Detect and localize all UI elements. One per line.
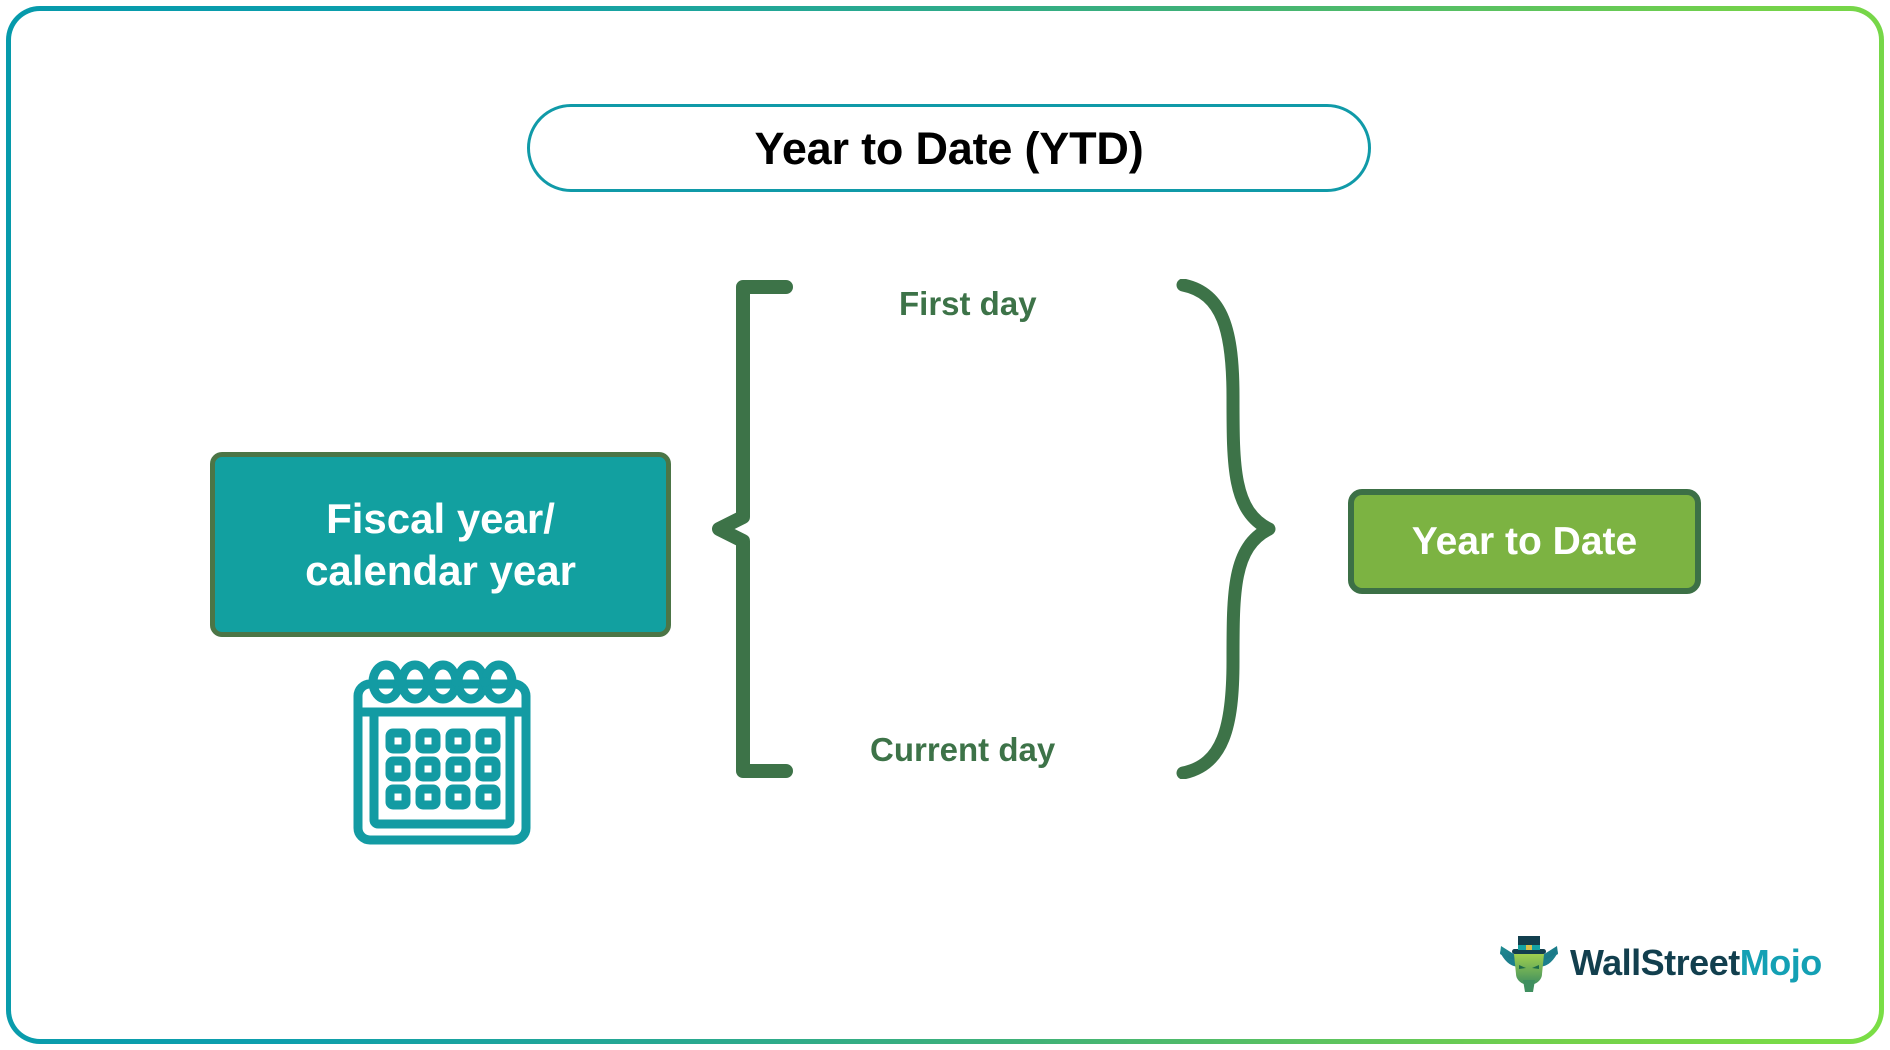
year-to-date-box: Year to Date [1348,489,1701,594]
fiscal-year-label-line2: calendar year [305,545,576,596]
infographic-canvas: Year to Date (YTD) Fiscal year/ calendar… [0,0,1890,1050]
first-day-label: First day [899,287,1037,320]
left-brace-icon [711,279,831,779]
current-day-label: Current day [870,733,1055,766]
fiscal-year-label-line1: Fiscal year/ [326,493,555,544]
bull-with-top-hat-icon [1498,932,1560,994]
logo-word-primary: WallStreet [1570,942,1740,983]
year-to-date-label: Year to Date [1412,522,1637,561]
logo-wordmark: WallStreetMojo [1570,945,1822,981]
right-brace-icon [1171,279,1291,779]
frame-inner-surface: Year to Date (YTD) Fiscal year/ calendar… [11,11,1879,1039]
title-pill: Year to Date (YTD) [527,104,1371,192]
page-title: Year to Date (YTD) [755,126,1144,171]
calendar-icon [352,656,532,846]
wallstreetmojo-logo: WallStreetMojo [1498,928,1828,998]
fiscal-calendar-year-box: Fiscal year/ calendar year [210,452,671,637]
gradient-frame: Year to Date (YTD) Fiscal year/ calendar… [6,6,1884,1044]
logo-word-secondary: Mojo [1740,942,1822,983]
